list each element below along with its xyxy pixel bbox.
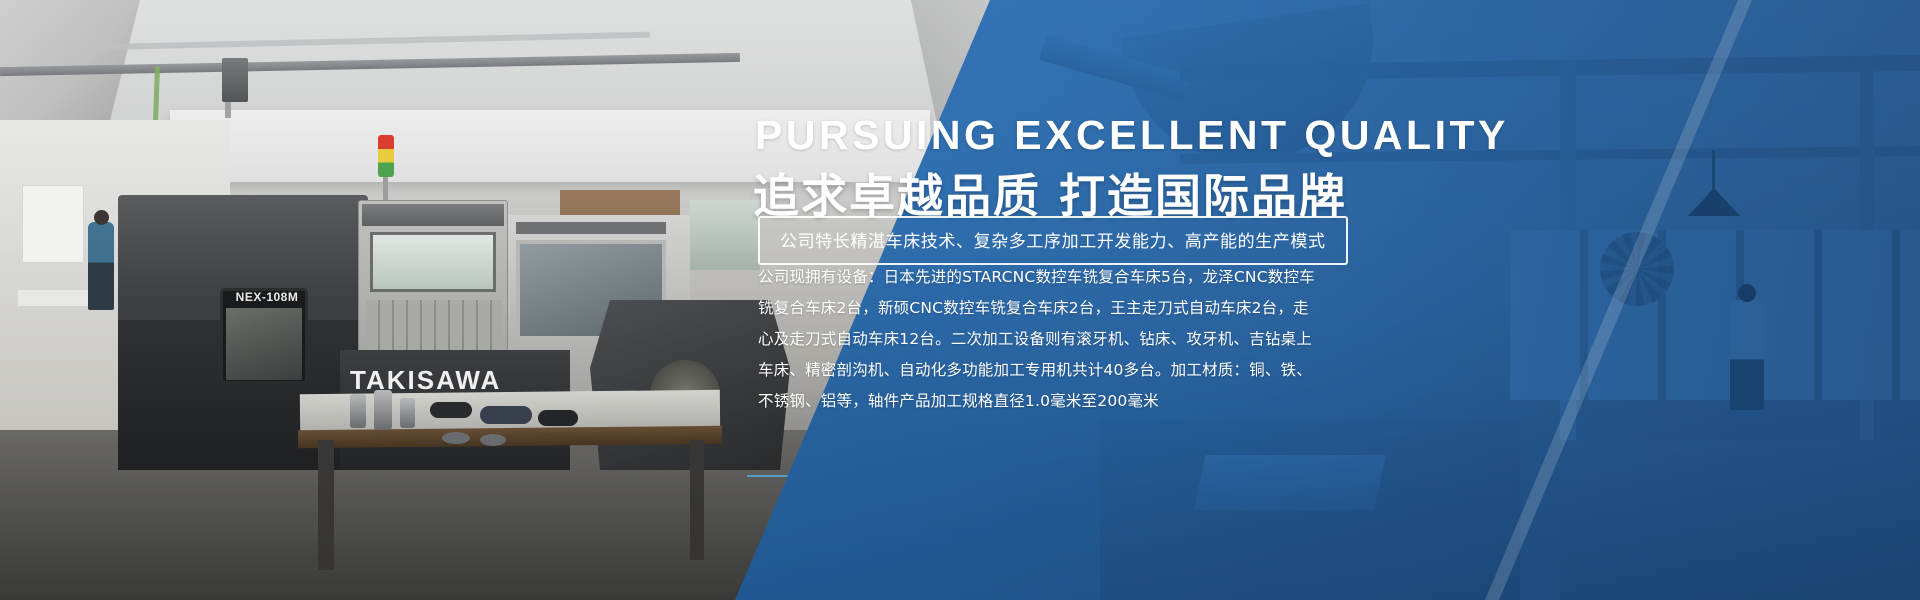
banner-body-copy: 公司现拥有设备：日本先进的STARCNC数控车铣复合车床5台，龙泽CNC数控车铣… <box>758 262 1318 417</box>
banner-subtitle-box: 公司特长精湛车床技术、复杂多工序加工开发能力、高产能的生产模式 <box>758 216 1348 265</box>
banner-kicker: PURSUING EXCELLENT QUALITY <box>755 112 1509 159</box>
banner-content: PURSUING EXCELLENT QUALITY 追求卓越品质 打造国际品牌… <box>750 0 1850 600</box>
hero-banner: NEX-108M TAKISAWA TAKISAWA MACHINE TOOL <box>0 0 1920 600</box>
